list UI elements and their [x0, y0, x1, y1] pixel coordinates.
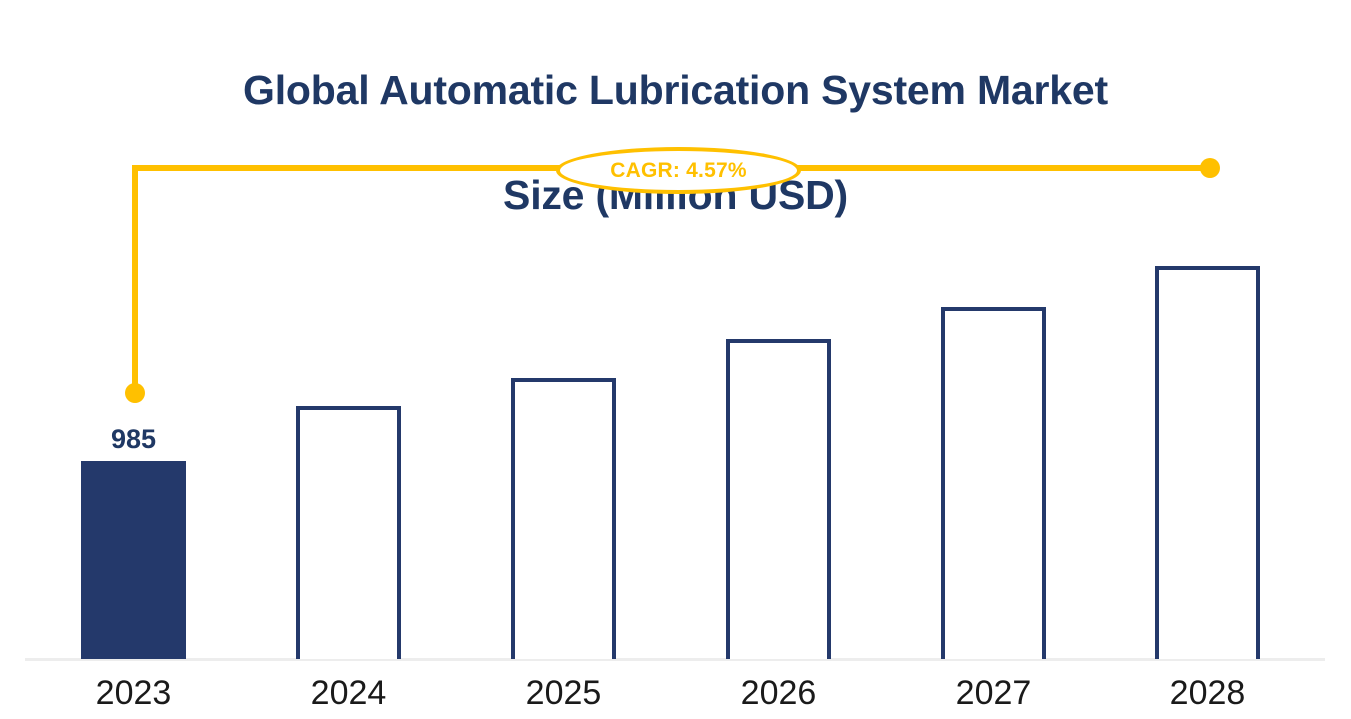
x-tick-2027: 2027 [941, 674, 1046, 713]
x-tick-2028: 2028 [1155, 674, 1260, 713]
bar-2028 [1155, 266, 1260, 659]
bar-2025 [511, 378, 616, 659]
bar-2027 [941, 307, 1046, 659]
bar-2023 [81, 461, 186, 659]
bar-2024 [296, 406, 401, 659]
x-tick-2025: 2025 [511, 674, 616, 713]
bar-value-2023: 985 [81, 424, 186, 455]
x-tick-2024: 2024 [296, 674, 401, 713]
plot-area: 985 2023 2024 2025 2026 2027 2028 [0, 0, 1351, 719]
bar-2026 [726, 339, 831, 659]
chart-canvas: Global Automatic Lubrication System Mark… [0, 0, 1351, 719]
x-axis-line [25, 658, 1325, 661]
x-tick-2026: 2026 [726, 674, 831, 713]
x-tick-2023: 2023 [81, 674, 186, 713]
